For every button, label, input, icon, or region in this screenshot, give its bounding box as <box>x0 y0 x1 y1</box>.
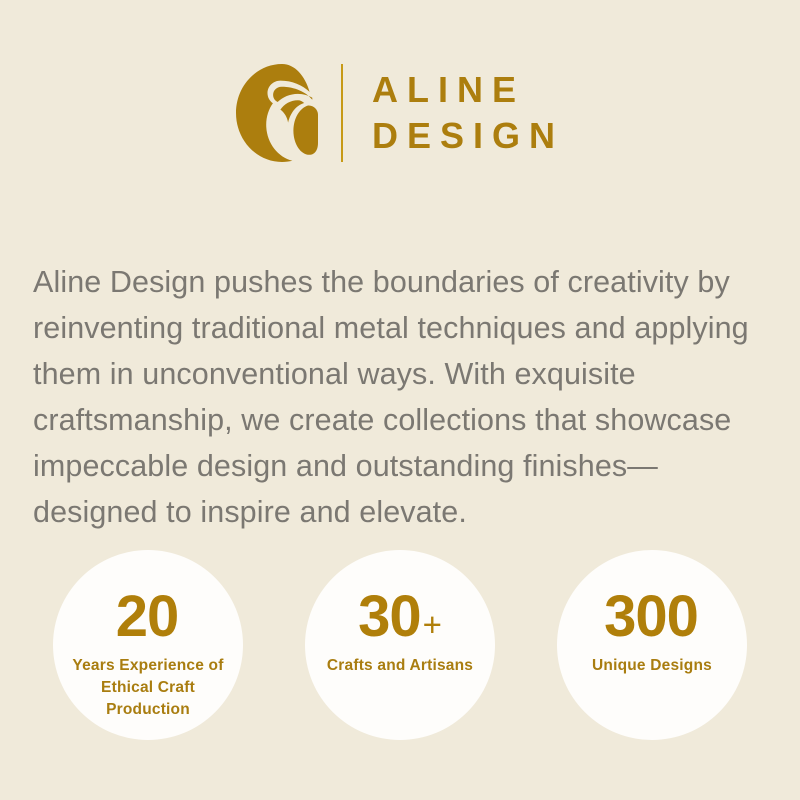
stat-number-row: 30 + <box>358 588 442 646</box>
page-root: ALINE DESIGN Aline Design pushes the bou… <box>0 0 800 800</box>
stat-number: 300 <box>604 588 698 646</box>
stat-suffix: + <box>423 608 442 641</box>
stat-circle-crafts-artisans: 30 + Crafts and Artisans <box>305 550 495 740</box>
stat-number-row: 300 <box>604 588 700 646</box>
brand-wordmark: ALINE DESIGN <box>372 67 564 159</box>
stat-label: Crafts and Artisans <box>318 655 483 677</box>
wordmark-line-aline: ALINE <box>372 67 564 113</box>
stat-number: 20 <box>116 588 179 646</box>
intro-paragraph: Aline Design pushes the boundaries of cr… <box>33 259 778 535</box>
stat-label: Unique Designs <box>570 655 735 677</box>
stat-circle-years-experience: 20 Years Experience of Ethical Craft Pro… <box>53 550 243 740</box>
wordmark-line-design: DESIGN <box>372 113 564 159</box>
stat-label: Years Experience of Ethical Craft Produc… <box>66 655 231 721</box>
aline-monogram-icon <box>236 64 320 162</box>
brand-logo-lockup: ALINE DESIGN <box>0 55 800 170</box>
vertical-divider-icon <box>341 64 343 162</box>
stat-circle-unique-designs: 300 Unique Designs <box>557 550 747 740</box>
stats-row: 20 Years Experience of Ethical Craft Pro… <box>0 550 800 750</box>
stat-number: 30 <box>358 588 421 646</box>
stat-number-row: 20 <box>116 588 181 646</box>
